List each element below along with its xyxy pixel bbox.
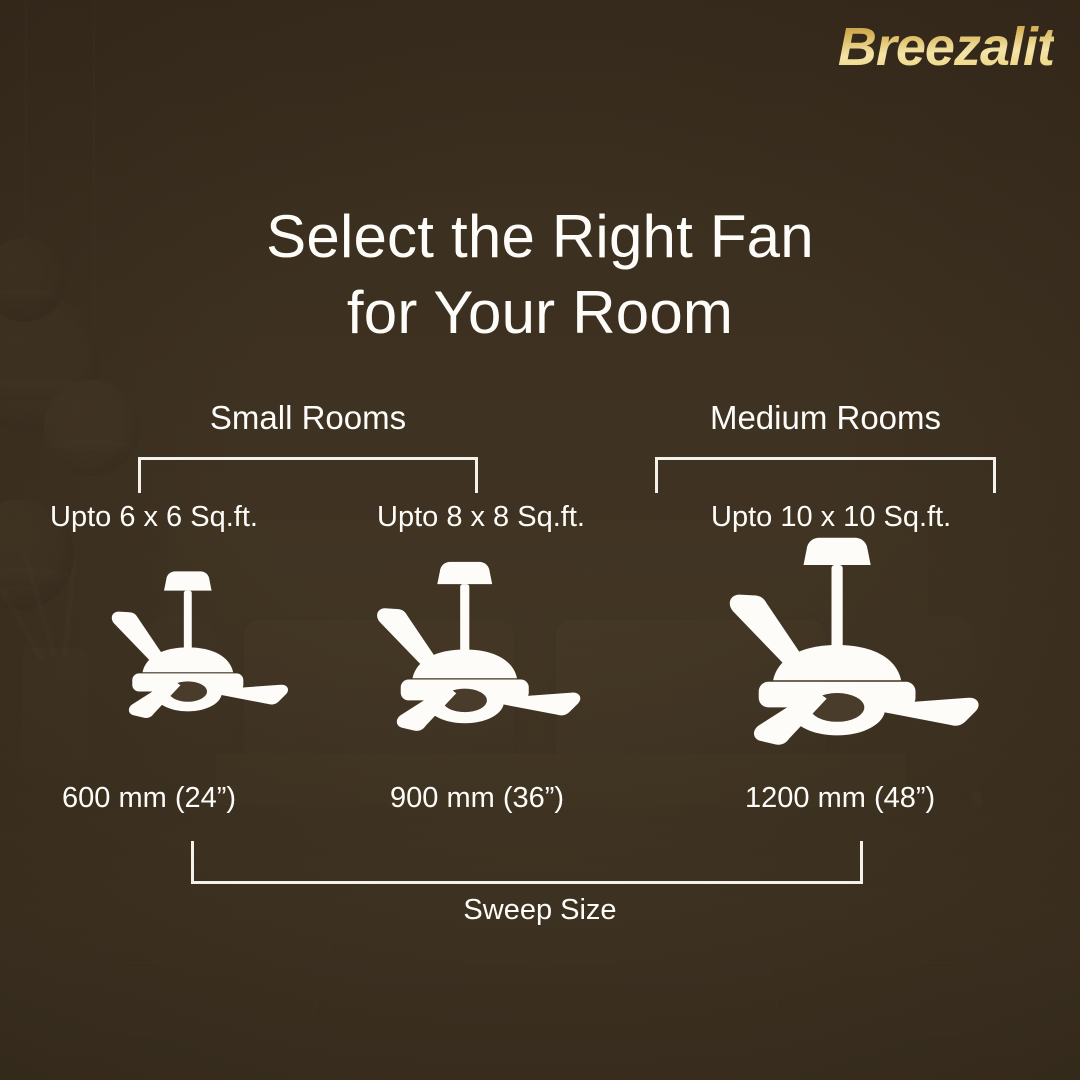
headline-line-2: for Your Room: [0, 275, 1080, 351]
bracket-leg-right: [860, 841, 863, 884]
bracket-bar: [191, 881, 863, 884]
bracket-down-icon-small-rooms: [138, 457, 478, 493]
fan-sweep-label-3: 1200 mm (48”): [745, 782, 935, 815]
ceiling-fan-icon-600mm: [101, 568, 295, 738]
infographic-canvas: Breezalit Select the Right Fan for Your …: [0, 0, 1080, 1080]
category-label-small-rooms: Small Rooms: [138, 399, 478, 437]
bracket-leg-left: [191, 841, 194, 884]
category-label-medium-rooms: Medium Rooms: [655, 399, 996, 437]
room-size-label-1: Upto 6 x 6 Sq.ft.: [50, 501, 258, 534]
fan-sweep-label-1: 600 mm (24”): [62, 782, 236, 815]
fan-sweep-label-2: 900 mm (36”): [390, 782, 564, 815]
bracket-leg-right: [993, 457, 996, 493]
bracket-leg-right: [475, 457, 478, 493]
infographic-content: Breezalit Select the Right Fan for Your …: [0, 0, 1080, 1080]
brand-logo: Breezalit: [838, 16, 1054, 78]
room-size-label-2: Upto 8 x 8 Sq.ft.: [377, 501, 585, 534]
bracket-down-icon-medium-rooms: [655, 457, 996, 493]
bracket-leg-left: [138, 457, 141, 493]
ceiling-fan-icon-900mm: [352, 558, 601, 754]
headline-line-1: Select the Right Fan: [266, 203, 814, 270]
bracket-bar: [655, 457, 996, 460]
sweep-size-label: Sweep Size: [0, 894, 1080, 927]
ceiling-fan-icon-1200mm: [681, 533, 1022, 773]
bracket-bar: [138, 457, 478, 460]
room-size-label-3: Upto 10 x 10 Sq.ft.: [711, 501, 951, 534]
page-title: Select the Right Fan for Your Room: [0, 199, 1080, 351]
bracket-up-icon-sweep-size: [191, 841, 863, 884]
bracket-leg-left: [655, 457, 658, 493]
